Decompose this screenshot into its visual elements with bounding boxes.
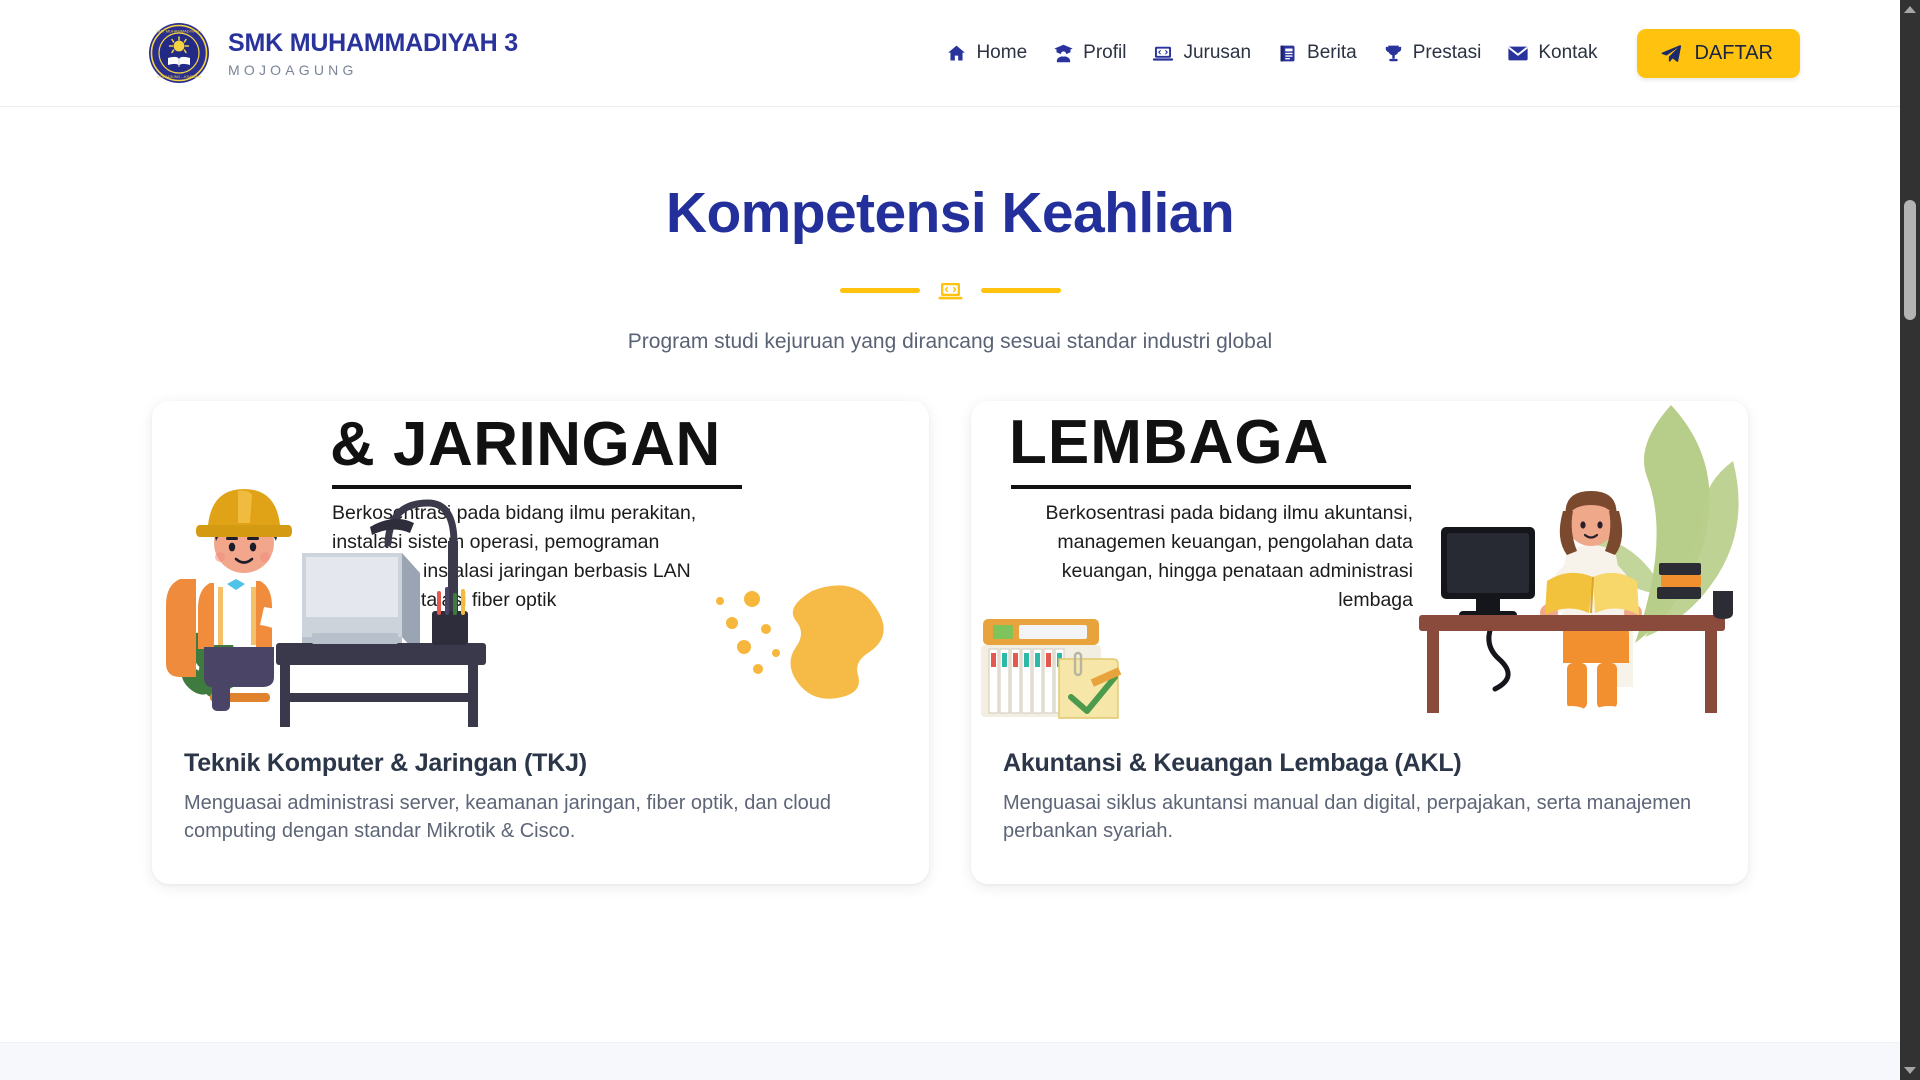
home-icon xyxy=(946,43,967,64)
divider-bar-left xyxy=(840,288,920,293)
daftar-button[interactable]: DAFTAR xyxy=(1637,29,1800,78)
vertical-scrollbar[interactable] xyxy=(1900,0,1920,1080)
svg-text:keuangan, hingga penataan admi: keuangan, hingga penataan administrasi xyxy=(1062,560,1413,582)
svg-text:MOJOAGUNG - JOMBANG: MOJOAGUNG - JOMBANG xyxy=(157,75,202,79)
page-title: Kompetensi Keahlian xyxy=(0,182,1900,245)
card-body-akl: Akuntansi & Keuangan Lembaga (AKL) Mengu… xyxy=(971,727,1748,884)
svg-text:instalasi sistem operasi, pemo: instalasi sistem operasi, pemograman xyxy=(332,531,659,553)
brand-subtitle: MOJOAGUNG xyxy=(228,62,518,78)
program-cards: & JARINGAN Berkosentrasi pada bidang ilm… xyxy=(0,401,1900,884)
paper-plane-icon xyxy=(1660,42,1683,65)
svg-text:SMK MUHAMMADIYAH 3: SMK MUHAMMADIYAH 3 xyxy=(156,29,203,34)
nav-item-home[interactable]: Home xyxy=(946,42,1027,64)
svg-text:& JARINGAN: & JARINGAN xyxy=(330,410,721,479)
section-divider xyxy=(0,279,1900,303)
card-media-akl: LEMBAGA Berkosentrasi pada bidang ilmu a… xyxy=(971,401,1748,727)
nav-label: Prestasi xyxy=(1413,42,1482,64)
scrollbar-thumb[interactable] xyxy=(1904,200,1916,320)
nav-label: Kontak xyxy=(1538,42,1597,64)
nav-item-berita[interactable]: Berita xyxy=(1277,42,1357,64)
kompetensi-section: Kompetensi Keahlian Program studi kejuru… xyxy=(0,107,1900,884)
trophy-icon xyxy=(1383,43,1404,64)
svg-text:Berkosentrasi pada bidang ilmu: Berkosentrasi pada bidang ilmu akuntansi… xyxy=(1046,502,1413,524)
nav-item-profil[interactable]: Profil xyxy=(1053,42,1126,64)
school-emblem-icon: SMK MUHAMMADIYAH 3 MOJOAGUNG - JOMBANG xyxy=(148,22,210,84)
svg-text:managemen keuangan, pengolahan: managemen keuangan, pengolahan data xyxy=(1057,531,1413,553)
card-description: Menguasai administrasi server, keamanan … xyxy=(184,789,897,846)
main-nav: Home Profil xyxy=(946,29,1800,78)
laptop-code-icon xyxy=(937,279,964,303)
section-subtitle: Program studi kejuruan yang dirancang se… xyxy=(0,330,1900,354)
laptop-code-icon xyxy=(1152,43,1174,64)
nav-label: Jurusan xyxy=(1183,42,1251,64)
card-body-tkj: Teknik Komputer & Jaringan (TKJ) Menguas… xyxy=(152,727,929,884)
page-bottom-band xyxy=(0,1042,1900,1080)
card-title: Teknik Komputer & Jaringan (TKJ) xyxy=(184,749,897,778)
nav-item-prestasi[interactable]: Prestasi xyxy=(1383,42,1482,64)
program-card-tkj[interactable]: & JARINGAN Berkosentrasi pada bidang ilm… xyxy=(152,401,929,884)
newspaper-icon xyxy=(1277,43,1298,64)
nav-label: Profil xyxy=(1083,42,1126,64)
card-title: Akuntansi & Keuangan Lembaga (AKL) xyxy=(1003,749,1716,778)
brand-title: SMK MUHAMMADIYAH 3 xyxy=(228,29,518,57)
page-viewport: SMK MUHAMMADIYAH 3 MOJOAGUNG - JOMBANG S… xyxy=(0,0,1900,1080)
brand[interactable]: SMK MUHAMMADIYAH 3 MOJOAGUNG - JOMBANG S… xyxy=(148,22,518,84)
card-media-tkj: & JARINGAN Berkosentrasi pada bidang ilm… xyxy=(152,401,929,727)
svg-text:lembaga: lembaga xyxy=(1338,589,1413,611)
card-description: Menguasai siklus akuntansi manual dan di… xyxy=(1003,789,1716,846)
chevron-down-icon[interactable] xyxy=(1904,1067,1916,1074)
daftar-label: DAFTAR xyxy=(1694,42,1773,65)
svg-text:LEMBAGA: LEMBAGA xyxy=(1009,408,1329,477)
envelope-icon xyxy=(1507,43,1529,64)
divider-bar-right xyxy=(981,288,1061,293)
nav-item-kontak[interactable]: Kontak xyxy=(1507,42,1597,64)
nav-label: Berita xyxy=(1307,42,1357,64)
chevron-up-icon[interactable] xyxy=(1904,6,1916,13)
nav-item-jurusan[interactable]: Jurusan xyxy=(1152,42,1251,64)
program-card-akl[interactable]: LEMBAGA Berkosentrasi pada bidang ilmu a… xyxy=(971,401,1748,884)
nav-label: Home xyxy=(976,42,1027,64)
graduate-user-icon xyxy=(1053,43,1074,64)
site-header: SMK MUHAMMADIYAH 3 MOJOAGUNG - JOMBANG S… xyxy=(0,0,1900,107)
